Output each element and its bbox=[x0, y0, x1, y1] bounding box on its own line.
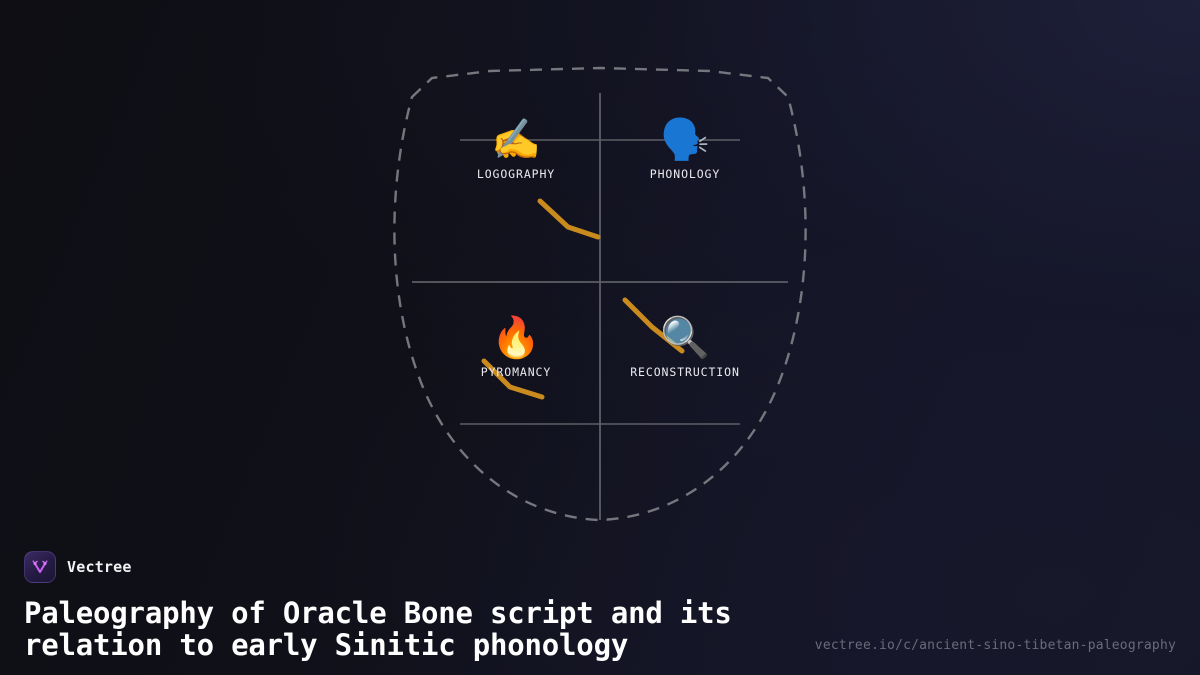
card-footer: Vectree Paleography of Oracle Bone scrip… bbox=[0, 551, 1200, 675]
share-card-canvas: ✍️ LOGOGRAPHY 🗣️ PHONOLOGY 🔥 PYROMANCY 🔍… bbox=[0, 0, 1200, 675]
crack-reconstruction-icon bbox=[625, 300, 682, 351]
page-title: Paleography of Oracle Bone script and it… bbox=[24, 597, 764, 661]
oracle-bone-emblem bbox=[340, 45, 860, 545]
source-url: vectree.io/c/ancient-sino-tibetan-paleog… bbox=[815, 638, 1176, 653]
vectree-v-logo-icon bbox=[24, 551, 56, 583]
crack-logography-icon bbox=[540, 201, 598, 237]
crack-pyromancy-icon bbox=[484, 361, 542, 397]
brand-lockup[interactable]: Vectree bbox=[24, 551, 1176, 583]
brand-name: Vectree bbox=[67, 558, 132, 576]
